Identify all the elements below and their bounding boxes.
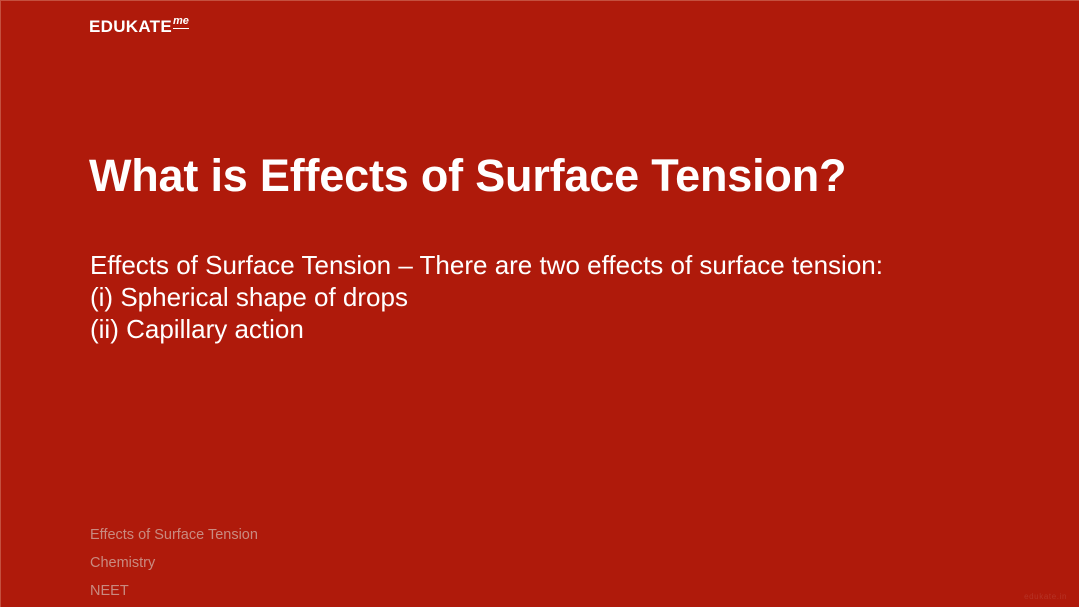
body-line-item-1: (i) Spherical shape of drops bbox=[90, 281, 1020, 313]
body-line-intro: Effects of Surface Tension – There are t… bbox=[90, 249, 1020, 281]
slide-body: Effects of Surface Tension – There are t… bbox=[90, 249, 1020, 345]
watermark: edukate.in bbox=[1024, 592, 1067, 601]
brand-logo[interactable]: EDUKATE me bbox=[89, 18, 189, 35]
brand-logo-wordmark: EDUKATE bbox=[89, 18, 172, 35]
footer-topic: Effects of Surface Tension bbox=[90, 521, 590, 549]
body-line-item-2: (ii) Capillary action bbox=[90, 313, 1020, 345]
slide-canvas: EDUKATE me What is Effects of Surface Te… bbox=[0, 0, 1079, 607]
footer-exam: NEET bbox=[90, 577, 590, 605]
slide-footer: Effects of Surface Tension Chemistry NEE… bbox=[90, 521, 590, 605]
brand-logo-superscript: me bbox=[173, 16, 189, 29]
slide-title: What is Effects of Surface Tension? bbox=[89, 151, 1009, 201]
footer-subject: Chemistry bbox=[90, 549, 590, 577]
